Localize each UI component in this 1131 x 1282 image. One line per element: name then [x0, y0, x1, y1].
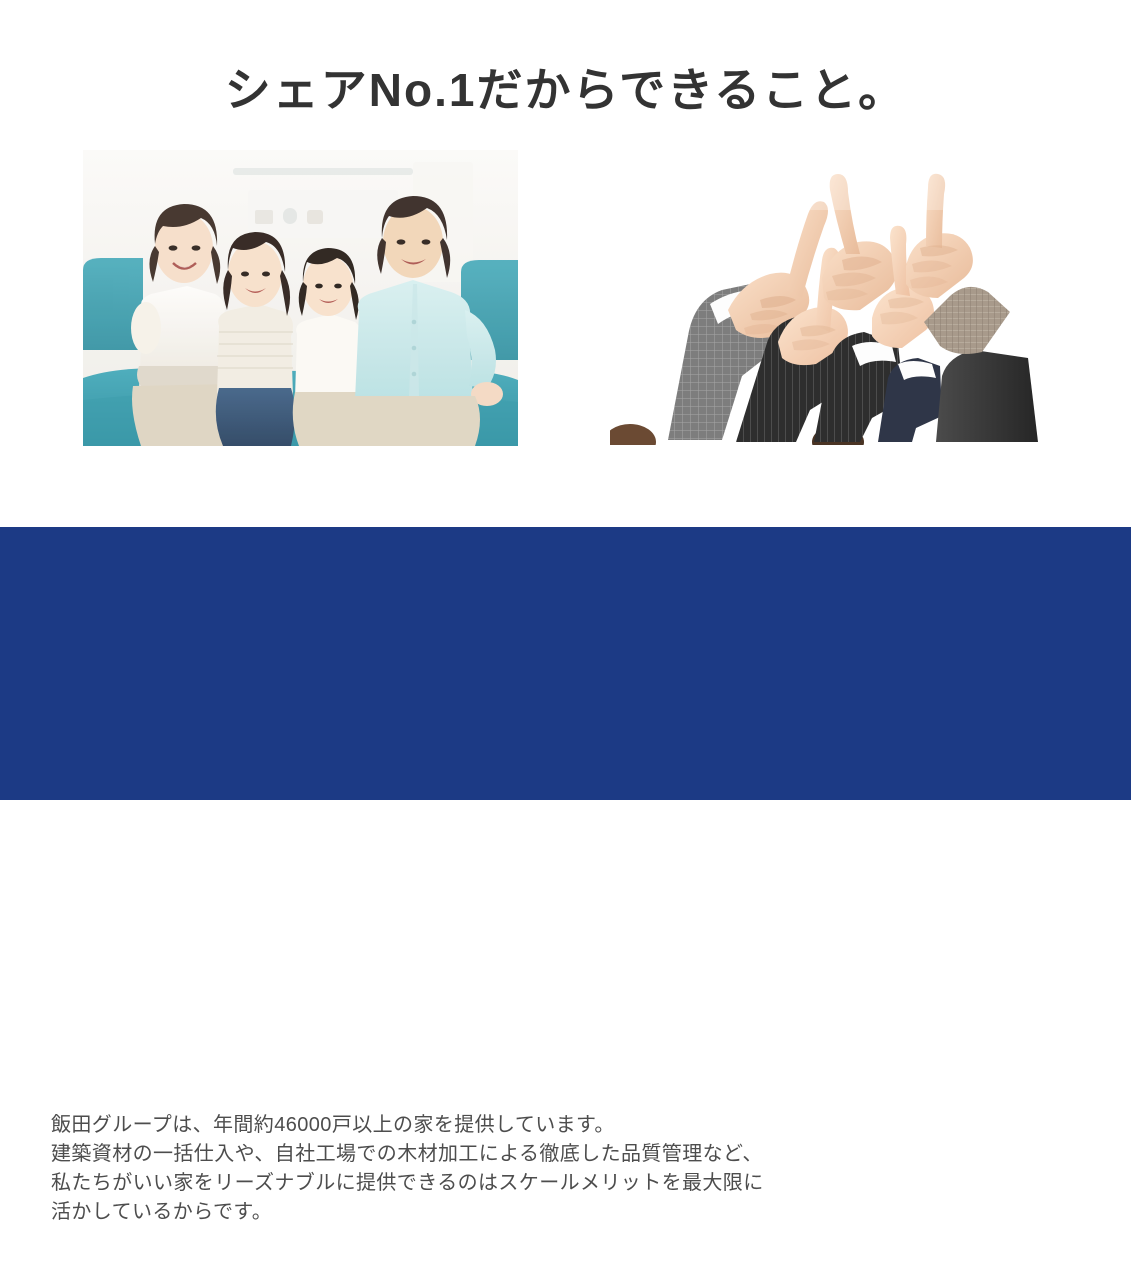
- family-on-sofa-photo: [83, 150, 518, 446]
- page-title: シェアNo.1だからできること。: [0, 65, 1131, 116]
- info-card: 飯田グループは、年間約46000戸以上の家を提供しています。 建築資材の一括仕入…: [33, 1087, 1100, 1282]
- hands-pointing-up-photo: [610, 150, 1043, 445]
- info-card-body-text: 飯田グループは、年間約46000戸以上の家を提供しています。 建築資材の一括仕入…: [51, 1111, 1070, 1227]
- blue-band: 飯田グループは、年間約46000戸以上の家を提供しています。 建築資材の一括仕入…: [0, 527, 1131, 800]
- media-row: [0, 150, 1131, 450]
